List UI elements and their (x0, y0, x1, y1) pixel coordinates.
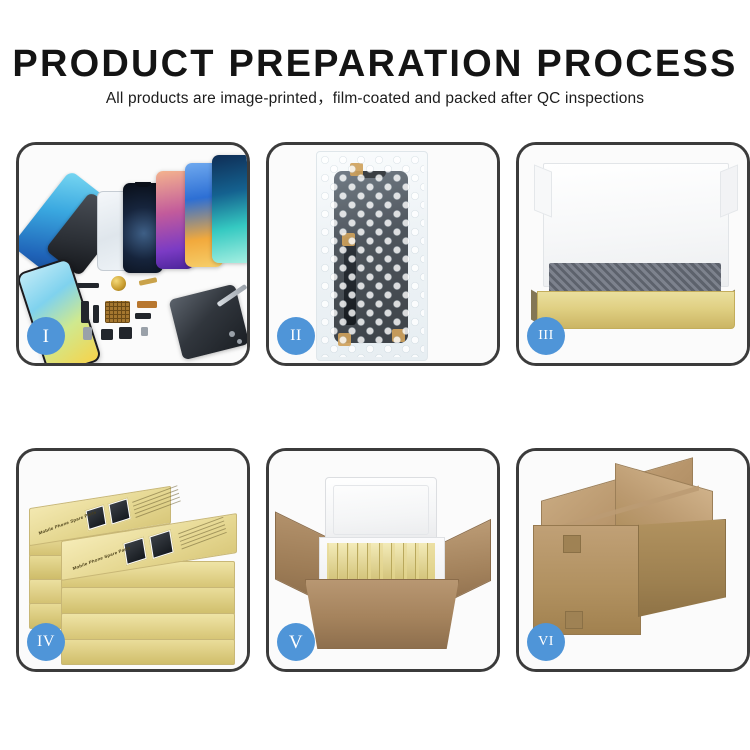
step-badge-3: III (527, 317, 565, 355)
step-panel-3[interactable]: III (516, 142, 750, 366)
stacked-box-f3 (61, 613, 235, 641)
step-numeral-1: I (43, 327, 50, 346)
part-flex-2 (93, 305, 99, 323)
step-panel-4[interactable]: Mobile Phone Spare Parts Mobile Phone Sp… (16, 448, 250, 672)
box-window-2 (107, 497, 131, 526)
carton-body-open (305, 579, 459, 649)
carton-corner-tab-top (563, 535, 581, 553)
bubble-texture (320, 155, 424, 357)
step-panel-6[interactable]: VI (516, 448, 750, 672)
product-preparation-infographic: PRODUCT PREPARATION PROCESS All products… (0, 0, 750, 750)
box-window-4 (148, 529, 175, 560)
part-camera (83, 327, 92, 340)
step-badge-2: II (277, 317, 315, 355)
step-numeral-3: III (538, 329, 554, 343)
part-ribbon-1 (137, 301, 157, 308)
speaker-component (111, 276, 126, 291)
stacked-box-f4 (61, 639, 235, 665)
part-module-3 (141, 327, 148, 336)
box-yellow-base (537, 291, 735, 329)
step-panel-5[interactable]: V (266, 448, 500, 672)
part-module-1 (101, 329, 113, 340)
teal-phone-display (212, 155, 250, 263)
carton-side-face (638, 519, 726, 617)
part-screw-2 (237, 339, 242, 344)
part-connector (77, 283, 99, 288)
carton-corner-tab-bottom (565, 611, 583, 629)
stacked-box-f2 (61, 587, 235, 615)
part-flex-1 (81, 301, 89, 323)
bubble-wrap-bag (316, 151, 428, 361)
step-numeral-2: II (290, 328, 302, 344)
step-badge-6: VI (527, 623, 565, 661)
step-panel-2[interactable]: II (266, 142, 500, 366)
foam-lid (325, 477, 437, 543)
part-module-2 (119, 327, 132, 339)
step-numeral-6: VI (538, 635, 554, 649)
part-ribbon-2 (135, 313, 151, 319)
step-numeral-4: IV (37, 634, 55, 650)
phone-back-housing (169, 284, 250, 361)
step-badge-4: IV (27, 623, 65, 661)
logic-board-chip (105, 301, 130, 323)
step-numeral-5: V (289, 633, 303, 652)
part-screw-1 (229, 331, 235, 337)
box-spec-lines-front (178, 517, 228, 554)
step-panel-1[interactable]: I (16, 142, 250, 366)
box-spec-lines-back (132, 485, 182, 522)
step-badge-1: I (27, 317, 65, 355)
part-flex-gold (139, 277, 158, 286)
box-label-text-front: Mobile Phone Spare Parts (72, 545, 131, 571)
steps-grid: I II (0, 0, 750, 750)
step-badge-5: V (277, 623, 315, 661)
carton-front-face (533, 525, 641, 635)
